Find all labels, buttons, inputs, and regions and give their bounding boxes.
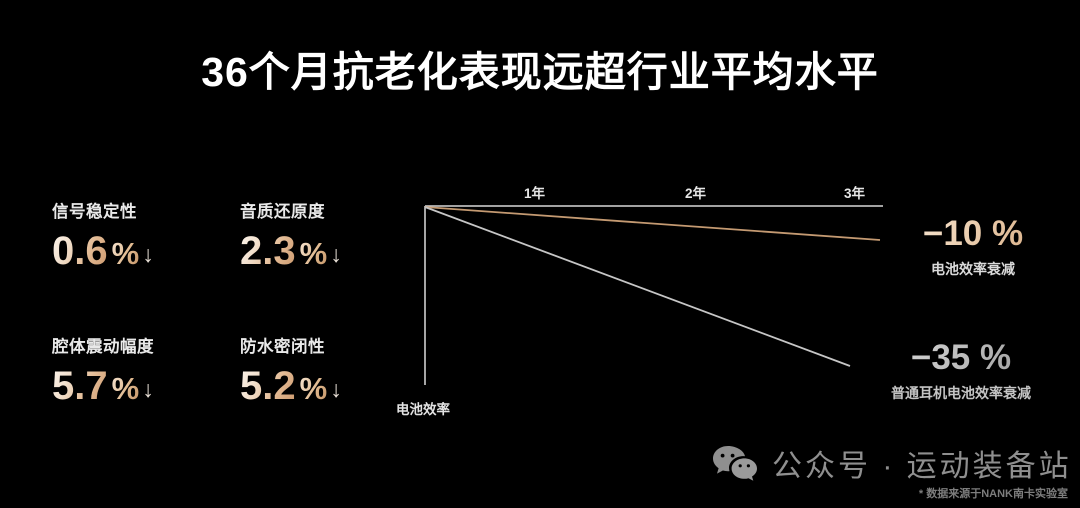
y-axis-label: 电池效率 <box>396 398 450 418</box>
metric-percent-sign: % <box>112 371 140 407</box>
metric-number: 2.3 <box>240 229 296 274</box>
annotation-ordinary-decay: −35 % 普通耳机电池效率衰减 <box>850 340 1072 403</box>
metric-waterproof-seal: 防水密闭性 5.2 % ↓ <box>240 333 370 409</box>
metric-label: 音质还原度 <box>240 198 370 222</box>
arrow-down-icon: ↓ <box>142 241 154 268</box>
metric-value-row: 5.2 % ↓ <box>240 364 370 409</box>
source-note: * 数据来源于NANK南卡实验室 <box>919 485 1068 501</box>
annotation-value: −10 % <box>878 216 1068 251</box>
annotation-value: −35 % <box>850 340 1072 375</box>
wechat-icon <box>712 444 758 482</box>
watermark: 公众号 · 运动装备站 <box>712 441 1072 485</box>
metric-signal-stability: 信号稳定性 0.6 % ↓ <box>52 198 182 274</box>
x-tick-year-1: 1年 <box>524 182 545 202</box>
metric-value-row: 5.7 % ↓ <box>52 364 182 409</box>
metric-number: 0.6 <box>52 229 108 274</box>
annotation-caption: 电池效率衰减 <box>878 259 1068 279</box>
metric-value-row: 0.6 % ↓ <box>52 229 182 274</box>
watermark-text: 公众号 · 运动装备站 <box>772 441 1072 485</box>
metric-label: 腔体震动幅度 <box>52 333 182 357</box>
x-tick-year-2: 2年 <box>685 182 706 202</box>
metric-label: 防水密闭性 <box>240 333 370 357</box>
series-line-ordinary <box>425 207 850 366</box>
arrow-down-icon: ↓ <box>330 376 342 403</box>
metric-percent-sign: % <box>300 371 328 407</box>
arrow-down-icon: ↓ <box>142 376 154 403</box>
metric-label: 信号稳定性 <box>52 198 182 222</box>
annotation-nank-decay: −10 % 电池效率衰减 <box>878 216 1068 279</box>
x-tick-year-3: 3年 <box>844 182 865 202</box>
metric-value-row: 2.3 % ↓ <box>240 229 370 274</box>
metric-percent-sign: % <box>300 236 328 272</box>
metric-percent-sign: % <box>112 236 140 272</box>
metric-audio-fidelity: 音质还原度 2.3 % ↓ <box>240 198 370 274</box>
metrics-row: 腔体震动幅度 5.7 % ↓ 防水密闭性 5.2 % ↓ <box>52 333 372 409</box>
series-line-nank <box>425 207 880 240</box>
metrics-row: 信号稳定性 0.6 % ↓ 音质还原度 2.3 % ↓ <box>52 198 372 274</box>
arrow-down-icon: ↓ <box>330 241 342 268</box>
metric-cavity-vibration: 腔体震动幅度 5.7 % ↓ <box>52 333 182 409</box>
metrics-panel: 信号稳定性 0.6 % ↓ 音质还原度 2.3 % ↓ 腔体震动幅度 5.7 %… <box>52 198 372 409</box>
metric-number: 5.2 <box>240 364 296 409</box>
page-title: 36个月抗老化表现远超行业平均水平 <box>0 50 1080 95</box>
annotation-caption: 普通耳机电池效率衰减 <box>850 383 1072 403</box>
metric-number: 5.7 <box>52 364 108 409</box>
